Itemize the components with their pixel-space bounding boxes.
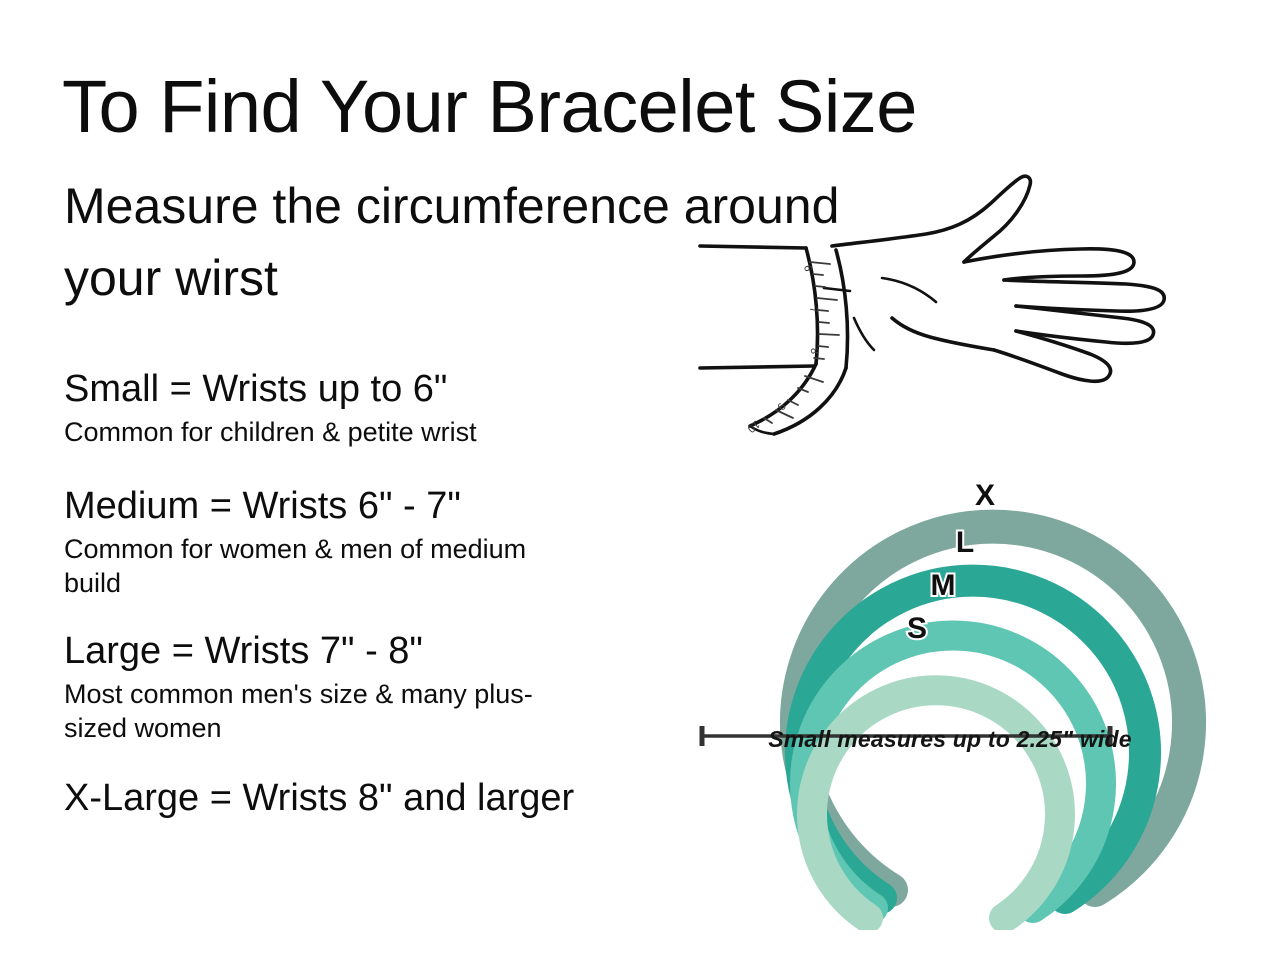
- bracelet-label-medium: M: [931, 569, 956, 602]
- bracelet-size-infographic: To Find Your Bracelet Size Measure the c…: [0, 0, 1280, 976]
- size-description-medium: Common for women & men of medium build: [64, 532, 584, 600]
- bracelet-label-small: S: [907, 612, 927, 645]
- svg-text:8: 8: [808, 348, 820, 355]
- svg-text:7: 7: [807, 306, 820, 313]
- size-entry-medium: Medium = Wrists 6" - 7" Common for women…: [64, 483, 644, 600]
- size-heading-small: Small = Wrists up to 6": [64, 366, 644, 412]
- size-entry-large: Large = Wrists 7" - 8" Most common men's…: [64, 628, 644, 745]
- measure-caption-wrap: Small measures up to 2.25" wide: [696, 726, 1204, 788]
- size-list: Small = Wrists up to 6" Common for child…: [64, 366, 644, 821]
- size-heading-large: Large = Wrists 7" - 8": [64, 628, 644, 674]
- bracelet-band-small: [812, 690, 1060, 918]
- page-title: To Find Your Bracelet Size: [62, 64, 917, 150]
- size-heading-xlarge: X-Large = Wrists 8" and larger: [64, 775, 584, 821]
- size-entry-xlarge: X-Large = Wrists 8" and larger: [64, 775, 644, 821]
- size-heading-medium: Medium = Wrists 6" - 7": [64, 483, 644, 529]
- size-description-large: Most common men's size & many plus-sized…: [64, 677, 584, 745]
- measure-caption: Small measures up to 2.25" wide: [696, 726, 1204, 753]
- size-entry-small: Small = Wrists up to 6" Common for child…: [64, 366, 644, 449]
- bracelet-label-xlarge: X: [975, 479, 995, 512]
- hand-with-tape-measure-illustration: 6 7 8 9 10: [664, 150, 1204, 450]
- bracelet-sizes-diagram: X L M S Small measures up to 2.25" wide: [640, 448, 1260, 930]
- size-description-small: Common for children & petite wrist: [64, 415, 584, 449]
- bracelet-label-large: L: [956, 526, 974, 559]
